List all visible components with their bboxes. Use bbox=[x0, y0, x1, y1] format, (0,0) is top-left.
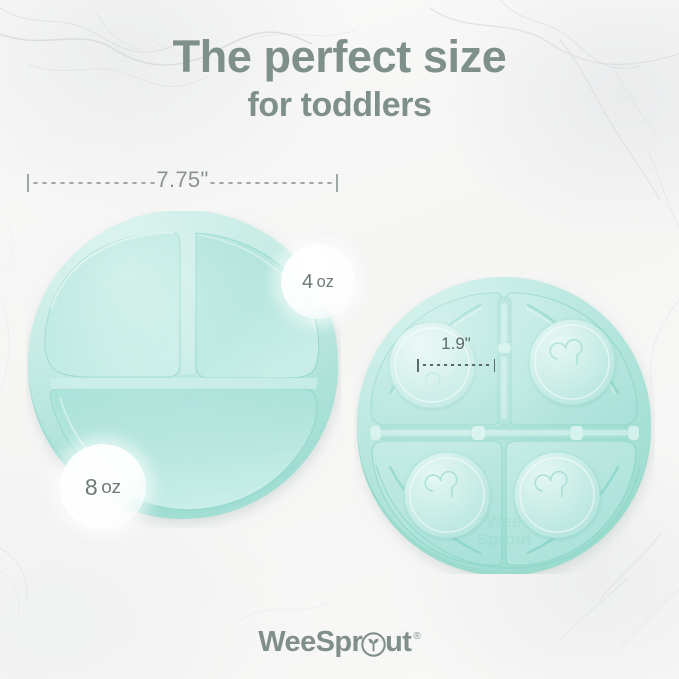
cup-dimension-end-cap-left bbox=[417, 359, 419, 372]
brand-wordmark-part2: ut bbox=[385, 626, 411, 659]
cup-dimension-end-cap-right bbox=[494, 359, 496, 372]
title-line-2: for toddlers bbox=[0, 88, 679, 123]
plate-underside-sheen bbox=[357, 277, 651, 571]
title-line-1: The perfect size bbox=[0, 34, 679, 80]
capacity-badge-8oz-unit: oz bbox=[101, 476, 121, 498]
capacity-badge-4oz: 4 oz bbox=[281, 245, 355, 319]
dimension-dotted-line-left bbox=[31, 182, 157, 184]
dimension-end-cap-left bbox=[27, 174, 29, 192]
dimension-dotted-line-right bbox=[208, 182, 334, 184]
capacity-badge-8oz-number: 8 bbox=[85, 474, 98, 501]
suction-cup-dimension: 1.9" bbox=[417, 336, 495, 372]
brand-logo: WeeSpr ut ® bbox=[0, 626, 679, 659]
plate-width-dimension: 7.75" bbox=[27, 167, 338, 201]
cup-dimension-dotted-line bbox=[421, 364, 491, 366]
suction-cup-size-label: 1.9" bbox=[441, 334, 471, 354]
capacity-badge-8oz: 8 oz bbox=[60, 444, 146, 530]
brand-wordmark-part1: WeeSpr bbox=[258, 626, 362, 659]
product-marketing-image: The perfect size for toddlers 7.75" bbox=[0, 0, 679, 679]
dimension-end-cap-right bbox=[336, 174, 338, 192]
sprout-leaf-icon bbox=[361, 632, 386, 657]
divided-plate-underside: Wee Sprout bbox=[354, 277, 655, 574]
capacity-badge-4oz-unit: oz bbox=[317, 273, 334, 292]
registered-trademark-symbol: ® bbox=[413, 631, 420, 642]
capacity-badge-4oz-number: 4 bbox=[302, 271, 314, 294]
page-title: The perfect size for toddlers bbox=[0, 34, 679, 123]
plate-width-label: 7.75" bbox=[156, 167, 208, 193]
